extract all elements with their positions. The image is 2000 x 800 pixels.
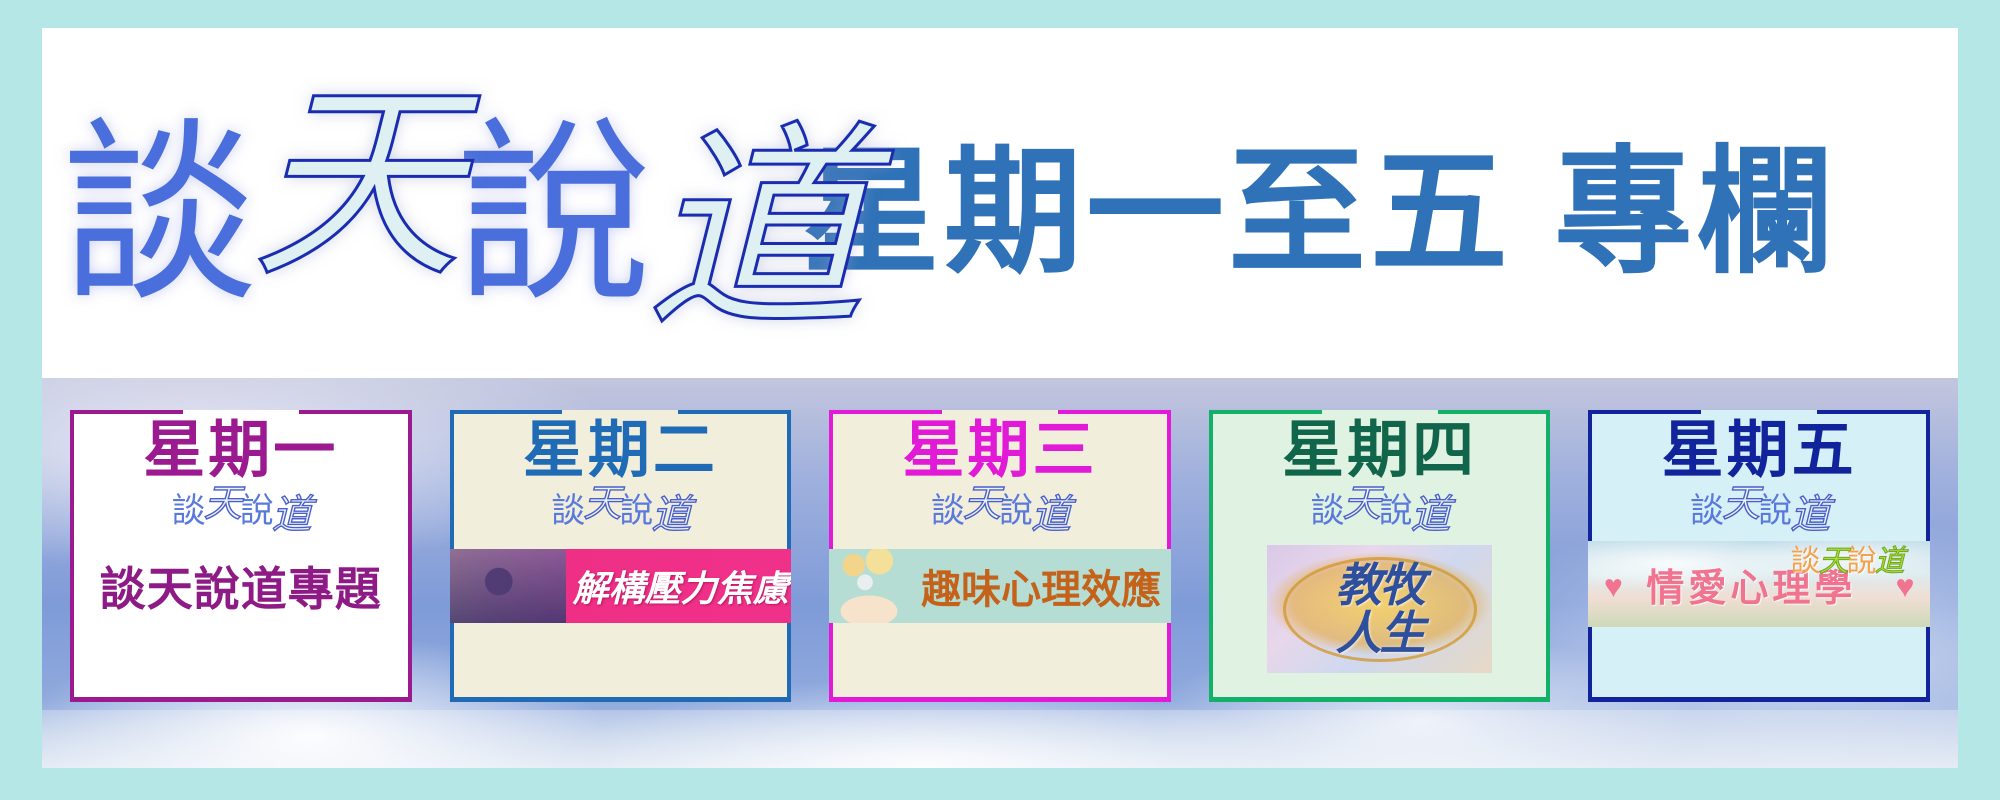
border-bottom — [1588, 697, 1930, 702]
border-top-left — [70, 410, 183, 414]
card-logo-thursday: 談天說道 — [1209, 487, 1551, 535]
card-logo-char-4: 道 — [1031, 492, 1069, 538]
border-top-right — [1817, 410, 1930, 414]
day-title-monday: 星期一 — [70, 418, 412, 483]
banner-logo-friday: 談天說道 — [1791, 545, 1903, 579]
lightbulb-brain-icon — [833, 549, 913, 623]
card-logo-char-3: 說 — [619, 491, 651, 531]
card-logo-char-1: 談 — [551, 491, 583, 531]
program-title-thursday: 教牧 人生 — [1267, 562, 1492, 656]
day-title-thursday: 星期四 — [1209, 418, 1551, 483]
card-logo-char-3: 說 — [1758, 491, 1790, 531]
border-bottom — [450, 697, 792, 702]
card-logo-char-1: 談 — [1690, 491, 1722, 531]
brand-logo-text: 談天說道 — [62, 61, 792, 351]
card-inner-friday: 星期五 談天說道 ♥ 情愛心理學 談天說道 ♥ — [1588, 410, 1930, 702]
brand-logo: 談天說道 — [62, 43, 792, 363]
card-inner-wednesday: 星期三 談天說道 趣味心理效應 — [829, 410, 1171, 702]
logo-char-3: 說 — [456, 101, 646, 329]
border-top-left — [450, 410, 563, 414]
banner-header: 談天說道 星期一至五 專欄 — [42, 28, 1958, 378]
border-top-right — [1438, 410, 1551, 414]
border-top-left — [1209, 410, 1322, 414]
card-logo-char-3: 說 — [999, 491, 1031, 531]
person-silhouette-image — [450, 549, 566, 623]
logo-char-4: 道 — [646, 102, 860, 358]
card-logo-tuesday: 談天說道 — [450, 487, 792, 535]
weekday-card-monday[interactable]: 星期一 談天說道 談天說道專題 — [60, 400, 422, 712]
weekday-card-tuesday[interactable]: 星期二 談天說道 解構壓力焦慮 — [440, 400, 802, 712]
card-inner-tuesday: 星期二 談天說道 解構壓力焦慮 — [450, 410, 792, 702]
card-logo-wednesday: 談天說道 — [829, 487, 1171, 535]
card-inner-monday: 星期一 談天說道 談天說道專題 — [70, 410, 412, 702]
border-bottom — [829, 697, 1171, 702]
card-logo-char-3: 說 — [1379, 491, 1411, 531]
program-title-wednesday: 趣味心理效應 — [921, 557, 1161, 615]
card-inner-thursday: 星期四 談天說道 教牧 人生 — [1209, 410, 1551, 702]
day-title-tuesday: 星期二 — [450, 418, 792, 483]
weekday-card-wednesday[interactable]: 星期三 談天說道 趣味心理效應 — [819, 400, 1181, 712]
program-title-tuesday: 解構壓力焦慮 — [573, 560, 789, 612]
border-top-left — [829, 410, 942, 414]
program-banner-thursday: 教牧 人生 — [1267, 545, 1492, 673]
card-logo-char-1: 談 — [931, 491, 963, 531]
heart-icon-left: ♥ — [1598, 572, 1628, 600]
weekday-card-list: 星期一 談天說道 談天說道專題 星期二 談天說道 解構壓力焦慮 — [42, 378, 1958, 768]
day-title-wednesday: 星期三 — [829, 418, 1171, 483]
card-logo-char-2: 天 — [1722, 481, 1758, 525]
card-logo-char-4: 道 — [1790, 492, 1828, 538]
card-logo-char-2: 天 — [583, 481, 619, 525]
card-logo-char-2: 天 — [1343, 481, 1379, 525]
border-bottom — [70, 697, 412, 702]
border-top-right — [678, 410, 791, 414]
banner-logo-char-2: 天 — [1819, 544, 1847, 579]
logo-char-2: 天 — [252, 61, 456, 306]
heart-icon-right: ♥ — [1890, 572, 1920, 600]
card-logo-char-4: 道 — [1411, 492, 1449, 538]
program-title-line2: 人生 — [1267, 610, 1492, 656]
card-logo-friday: 談天說道 — [1588, 487, 1930, 535]
card-logo-char-2: 天 — [204, 481, 240, 525]
card-logo-char-4: 道 — [651, 492, 689, 538]
program-title-line1: 教牧 — [1267, 562, 1492, 608]
card-logo-char-1: 談 — [172, 491, 204, 531]
card-logo-monday: 談天說道 — [70, 487, 412, 535]
border-top-right — [1058, 410, 1171, 414]
card-logo-char-4: 道 — [272, 492, 310, 538]
program-banner-friday: ♥ 情愛心理學 談天說道 ♥ — [1588, 541, 1930, 627]
weekday-card-friday[interactable]: 星期五 談天說道 ♥ 情愛心理學 談天說道 ♥ — [1578, 400, 1940, 712]
day-title-friday: 星期五 — [1588, 418, 1930, 483]
program-banner-tuesday: 解構壓力焦慮 — [450, 549, 792, 623]
border-top-left — [1588, 410, 1701, 414]
border-top-right — [299, 410, 412, 414]
border-bottom — [1209, 697, 1551, 702]
card-logo-char-3: 說 — [240, 491, 272, 531]
page-title: 星期一至五 專欄 — [792, 100, 1958, 300]
card-logo-char-1: 談 — [1311, 491, 1343, 531]
logo-char-1: 談 — [62, 101, 252, 329]
program-banner-wednesday: 趣味心理效應 — [829, 549, 1171, 623]
banner-logo-char-1: 談 — [1791, 544, 1819, 579]
card-subtitle-monday: 談天說道專題 — [70, 553, 412, 619]
card-logo-char-2: 天 — [963, 481, 999, 525]
banner-logo-char-3: 說 — [1847, 544, 1875, 579]
weekday-card-thursday[interactable]: 星期四 談天說道 教牧 人生 — [1199, 400, 1561, 712]
program-banner: 談天說道 星期一至五 專欄 星期一 談天說道 談天說道專題 — [42, 28, 1958, 768]
